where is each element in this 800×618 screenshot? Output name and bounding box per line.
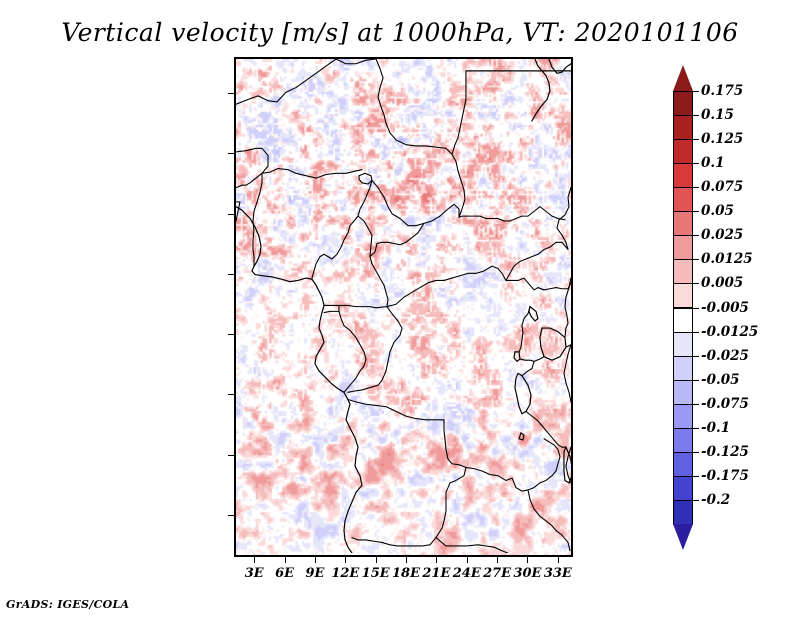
colorbar-tick: [693, 115, 699, 116]
colorbar-label: 0.15: [701, 107, 734, 123]
colorbar-segment: [673, 283, 693, 308]
colorbar-segment: [673, 500, 693, 525]
border-line: [466, 439, 560, 491]
colorbar-max-arrow: [673, 65, 693, 91]
colorbar-segment: [673, 380, 693, 405]
water-body: [529, 307, 538, 321]
longitude-tick-label: 33E: [544, 566, 572, 581]
longitude-tick: [497, 557, 498, 563]
water-body: [514, 352, 520, 361]
colorbar-tick: [693, 91, 699, 92]
page-title: Vertical velocity [m/s] at 1000hPa, VT: …: [0, 18, 800, 47]
longitude-tick-label: 15E: [362, 566, 390, 581]
colorbar-label: -0.125: [701, 444, 749, 460]
colorbar-tick: [693, 308, 699, 309]
border-line: [339, 311, 366, 392]
longitude-tick: [467, 557, 468, 563]
longitude-tick: [285, 557, 286, 563]
colorbar-tick: [693, 211, 699, 212]
colorbar-tick: [693, 380, 699, 381]
border-line: [519, 307, 530, 352]
latitude-tick: [228, 334, 234, 335]
colorbar-segment: [673, 235, 693, 260]
border-line: [532, 59, 550, 121]
longitude-tick: [254, 557, 255, 563]
colorbar-segment: [673, 259, 693, 284]
border-line: [358, 216, 388, 307]
border-line: [565, 278, 571, 337]
colorbar-tick: [693, 428, 699, 429]
colorbar-tick: [693, 163, 699, 164]
colorbar-segment: [673, 356, 693, 381]
water-body: [359, 173, 372, 184]
coastline-and-borders-overlay: [236, 59, 571, 553]
map-plot-panel: [234, 57, 573, 557]
colorbar-label: -0.075: [701, 396, 749, 412]
water-body: [519, 433, 524, 440]
latitude-tick: [228, 455, 234, 456]
border-line: [478, 545, 508, 553]
colorbar-segment: [673, 476, 693, 501]
latitude-tick: [228, 93, 234, 94]
colorbar-tick: [693, 139, 699, 140]
longitude-tick-label: 30E: [513, 566, 541, 581]
colorbar-label: 0.005: [701, 275, 743, 291]
border-line: [528, 490, 570, 551]
border-line: [376, 59, 465, 217]
water-body: [564, 447, 571, 483]
border-line: [236, 148, 268, 187]
colorbar-tick: [693, 283, 699, 284]
border-line: [312, 180, 372, 278]
longitude-tick: [376, 557, 377, 563]
colorbar-label: -0.05: [701, 372, 739, 388]
colorbar-label: 0.1: [701, 155, 725, 171]
longitude-tick: [406, 557, 407, 563]
latitude-tick: [228, 274, 234, 275]
longitude-tick-label: 18E: [392, 566, 420, 581]
colorbar-segment: [673, 404, 693, 429]
colorbar-tick: [693, 332, 699, 333]
border-line: [459, 207, 565, 221]
border-line: [324, 305, 339, 312]
border-line: [236, 207, 362, 553]
border-line: [339, 305, 387, 307]
colorbar-label: 0.05: [701, 203, 734, 219]
longitude-tick-label: 24E: [453, 566, 481, 581]
colorbar-segment: [673, 332, 693, 357]
colorbar-min-arrow: [673, 524, 693, 550]
colorbar-tick: [693, 187, 699, 188]
longitude-tick: [558, 557, 559, 563]
border-line: [348, 307, 402, 393]
longitude-tick-label: 6E: [275, 566, 294, 581]
latitude-tick: [228, 515, 234, 516]
colorbar-label: -0.1: [701, 420, 730, 436]
colorbar-tick: [693, 235, 699, 236]
colorbar-segment: [673, 211, 693, 236]
colorbar-segment: [673, 452, 693, 477]
colorbar: 0.1750.150.1250.10.0750.050.0250.01250.0…: [673, 65, 693, 550]
colorbar-label: -0.2: [701, 492, 730, 508]
vertical-velocity-field: [236, 59, 571, 555]
border-line: [352, 467, 466, 546]
border-line: [526, 411, 566, 447]
border-line: [452, 71, 466, 154]
water-body: [540, 328, 566, 360]
border-line: [387, 266, 538, 307]
colorbar-tick: [693, 500, 699, 501]
longitude-tick: [345, 557, 346, 563]
longitude-tick: [436, 557, 437, 563]
border-line: [520, 359, 534, 376]
longitude-tick-label: 12E: [331, 566, 359, 581]
credit-label: GrADS: IGES/COLA: [6, 598, 129, 611]
colorbar-tick: [693, 259, 699, 260]
border-line: [236, 59, 336, 104]
border-line: [336, 59, 376, 64]
longitude-tick: [315, 557, 316, 563]
colorbar-label: 0.0125: [701, 251, 753, 267]
colorbar-segment: [673, 163, 693, 188]
colorbar-tick: [693, 356, 699, 357]
border-line: [262, 168, 362, 178]
colorbar-segment: [673, 139, 693, 164]
latitude-tick: [228, 153, 234, 154]
border-line: [348, 400, 466, 468]
colorbar-segment: [673, 187, 693, 212]
border-line: [564, 345, 571, 402]
border-line: [506, 242, 568, 280]
border-line: [236, 202, 240, 231]
colorbar-label: 0.175: [701, 83, 743, 99]
border-line: [372, 180, 459, 225]
colorbar-label: -0.005: [701, 300, 749, 316]
colorbar-tick: [693, 452, 699, 453]
colorbar-label: 0.125: [701, 131, 743, 147]
colorbar-label: -0.0125: [701, 324, 758, 340]
border-line: [436, 538, 478, 546]
longitude-tick-label: 27E: [483, 566, 511, 581]
colorbar-segment: [673, 308, 693, 333]
colorbar-segment: [673, 428, 693, 453]
colorbar-label: 0.025: [701, 227, 743, 243]
water-body: [515, 373, 531, 413]
longitude-tick-label: 21E: [422, 566, 450, 581]
colorbar-segment: [673, 91, 693, 116]
longitude-tick: [527, 557, 528, 563]
border-line: [538, 283, 571, 290]
colorbar-tick: [693, 404, 699, 405]
border-line: [534, 357, 544, 362]
latitude-tick: [228, 394, 234, 395]
latitude-tick: [228, 214, 234, 215]
colorbar-tick: [693, 476, 699, 477]
colorbar-segment: [673, 115, 693, 140]
colorbar-label: -0.025: [701, 348, 749, 364]
border-line: [377, 223, 424, 244]
longitude-tick-label: 3E: [245, 566, 264, 581]
colorbar-label: 0.075: [701, 179, 743, 195]
longitude-tick-label: 9E: [305, 566, 324, 581]
colorbar-label: -0.175: [701, 468, 749, 484]
